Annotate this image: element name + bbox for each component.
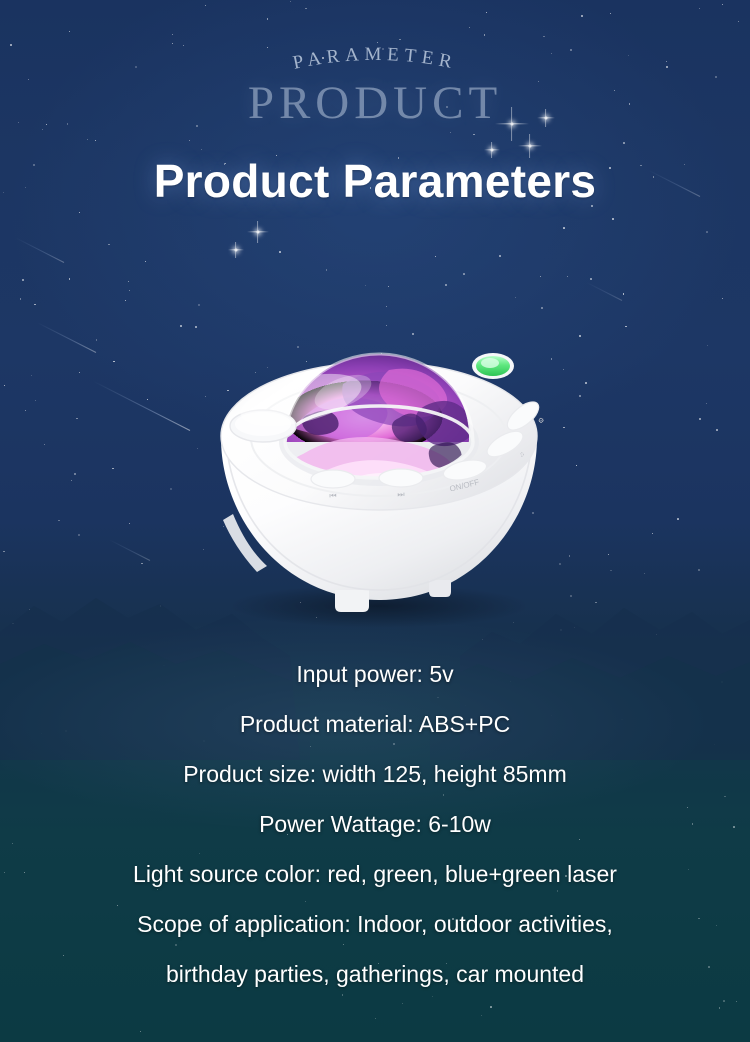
star — [699, 418, 701, 420]
spec-list: Input power: 5vProduct material: ABS+PCP… — [0, 663, 750, 986]
star — [79, 372, 80, 373]
meteor-streak — [16, 238, 65, 263]
star — [141, 563, 143, 565]
meteor-streak — [109, 539, 150, 561]
star — [69, 31, 70, 32]
star — [198, 304, 199, 305]
star — [87, 139, 88, 140]
star — [180, 325, 182, 327]
star — [576, 465, 577, 466]
spec-line: Product size: width 125, height 85mm — [0, 763, 750, 786]
star — [450, 132, 451, 133]
svg-text:⚙: ⚙ — [536, 416, 546, 426]
star — [172, 43, 173, 44]
star — [74, 473, 76, 475]
spec-line: Light source color: red, green, blue+gre… — [0, 863, 750, 886]
star — [71, 480, 72, 481]
star — [386, 306, 387, 307]
star — [129, 290, 130, 291]
star — [31, 375, 32, 376]
star — [570, 49, 572, 51]
star — [290, 1, 291, 2]
star — [541, 307, 543, 309]
star — [44, 444, 45, 445]
star — [4, 385, 5, 386]
spec-line: birthday parties, gatherings, car mounte… — [0, 963, 750, 986]
spec-line: Scope of application: Indoor, outdoor ac… — [0, 913, 750, 936]
star — [76, 418, 78, 420]
star — [656, 634, 657, 635]
star — [590, 278, 592, 280]
star — [540, 276, 541, 277]
page-title: Product Parameters — [0, 154, 750, 208]
led-indicator-icon — [472, 353, 514, 379]
star — [435, 256, 436, 257]
star — [375, 1018, 376, 1019]
star — [560, 629, 561, 630]
star — [69, 278, 71, 280]
star — [10, 44, 12, 46]
star — [579, 395, 581, 397]
star — [567, 276, 568, 277]
star — [46, 124, 47, 125]
sparkle-star — [228, 242, 244, 258]
star — [706, 403, 708, 405]
star — [189, 140, 190, 141]
star — [25, 410, 26, 411]
star — [482, 639, 483, 640]
product-parameters-page: PARAMETER PRODUCT Product Parameters — [0, 0, 750, 1042]
spec-line: Input power: 5v — [0, 663, 750, 686]
star — [484, 34, 485, 35]
star — [481, 1015, 482, 1016]
star — [196, 125, 198, 127]
star — [445, 284, 447, 286]
star — [12, 623, 14, 625]
star — [652, 533, 653, 534]
star — [707, 345, 708, 346]
star — [140, 1031, 142, 1033]
star — [469, 27, 471, 29]
star — [610, 570, 612, 572]
star — [326, 269, 328, 271]
star — [515, 297, 516, 298]
star — [388, 286, 389, 287]
star — [722, 298, 723, 299]
star — [125, 300, 126, 301]
star — [473, 134, 475, 136]
star — [666, 61, 668, 63]
star — [698, 569, 700, 571]
star — [170, 488, 172, 490]
star — [108, 244, 109, 245]
star — [382, 48, 384, 50]
star — [267, 18, 269, 20]
star — [183, 45, 184, 46]
star — [490, 1006, 492, 1008]
star — [699, 8, 700, 9]
star — [172, 34, 174, 36]
star — [629, 103, 631, 105]
star — [145, 261, 146, 262]
star — [623, 142, 625, 144]
star — [666, 66, 668, 68]
star — [463, 273, 465, 275]
meteor-streak — [586, 282, 622, 301]
sparkle-star — [247, 221, 269, 243]
star — [58, 520, 60, 522]
star — [377, 42, 379, 44]
star — [579, 335, 581, 337]
star — [42, 129, 43, 130]
star — [129, 523, 130, 524]
star — [305, 8, 306, 9]
spec-line: Power Wattage: 6-10w — [0, 813, 750, 836]
star — [96, 339, 97, 340]
star — [628, 55, 629, 56]
star — [563, 227, 565, 229]
star — [625, 326, 626, 327]
star — [22, 279, 24, 281]
star — [538, 81, 539, 82]
star — [738, 21, 739, 22]
sparkle-star — [495, 107, 529, 141]
star — [551, 53, 552, 54]
sparkle-star — [537, 109, 555, 127]
star — [623, 293, 625, 295]
star — [399, 39, 401, 41]
star — [3, 551, 5, 553]
product-image: ⏮ ⏭ ON/OFF ♫ ⚙ — [193, 318, 565, 628]
star — [342, 994, 343, 995]
star — [78, 534, 80, 536]
meteor-streak — [94, 381, 191, 431]
star — [402, 1003, 403, 1004]
star — [267, 47, 268, 48]
spec-line: Product material: ABS+PC — [0, 713, 750, 736]
star — [365, 285, 366, 286]
star — [574, 627, 575, 628]
svg-text:PARAMETER: PARAMETER — [291, 44, 459, 74]
star — [67, 123, 69, 125]
star — [35, 400, 36, 401]
star — [608, 554, 609, 555]
star — [79, 212, 80, 213]
star — [716, 429, 718, 431]
star — [585, 382, 587, 384]
arc-text-parameter: PARAMETER — [0, 42, 750, 82]
star — [201, 149, 203, 151]
star — [113, 361, 115, 363]
svg-text:⏭: ⏭ — [397, 490, 404, 499]
star — [486, 12, 487, 13]
star — [322, 57, 324, 59]
star — [20, 298, 22, 300]
star — [499, 255, 501, 257]
decorative-header: PARAMETER PRODUCT — [0, 42, 750, 127]
star — [29, 609, 30, 610]
star — [28, 79, 29, 80]
star — [34, 304, 36, 306]
star — [135, 66, 137, 68]
star — [147, 399, 148, 400]
star — [95, 140, 96, 141]
star — [612, 218, 614, 220]
star — [581, 15, 583, 17]
star — [128, 281, 129, 282]
star — [706, 231, 708, 233]
star — [543, 36, 544, 37]
star — [279, 251, 281, 253]
star — [614, 90, 615, 91]
meteor-streak — [37, 322, 96, 353]
star — [432, 996, 433, 997]
star — [723, 1000, 725, 1002]
svg-text:⏮: ⏮ — [329, 491, 336, 500]
star — [644, 573, 645, 574]
star — [205, 5, 206, 6]
star — [677, 518, 679, 520]
deco-text-product: PRODUCT — [0, 80, 750, 127]
star — [610, 13, 611, 14]
star — [719, 1007, 721, 1009]
star — [722, 4, 723, 5]
star — [160, 605, 162, 607]
star — [595, 602, 597, 604]
star — [446, 106, 448, 108]
star — [736, 1001, 737, 1002]
star — [112, 468, 114, 470]
star — [18, 122, 19, 123]
star — [715, 76, 717, 78]
star — [569, 555, 571, 557]
star — [570, 595, 572, 597]
